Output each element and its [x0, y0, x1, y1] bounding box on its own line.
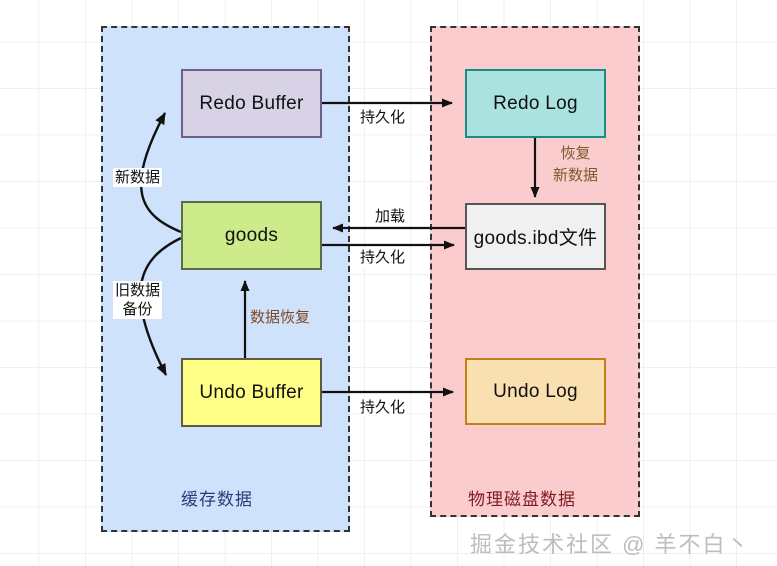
edge-label-recover-line1: 恢复 [553, 143, 598, 165]
edge-label-new-data: 新数据 [113, 168, 162, 187]
edge-label-load: 加载 [373, 207, 407, 226]
edge-label-persist-undo: 持久化 [358, 398, 407, 417]
node-undo-buffer-label: Undo Buffer [199, 382, 303, 404]
edge-label-persist-redo: 持久化 [358, 108, 407, 127]
edge-label-old-data-line1: 旧数据 [115, 281, 160, 300]
region-disk-label: 物理磁盘数据 [468, 485, 576, 510]
diagram-canvas: Redo Buffer goods Undo Buffer Redo Log g… [0, 0, 777, 566]
node-goods-label: goods [225, 225, 278, 247]
edge-label-old-data-line2: 备份 [115, 300, 160, 319]
node-undo-log-label: Undo Log [493, 381, 578, 403]
edge-label-recover-line2: 新数据 [553, 165, 598, 187]
node-undo-buffer[interactable]: Undo Buffer [181, 358, 322, 427]
edge-label-persist-goods: 持久化 [358, 248, 407, 267]
node-redo-buffer[interactable]: Redo Buffer [181, 69, 322, 138]
node-redo-buffer-label: Redo Buffer [199, 93, 303, 115]
edge-label-data-recovery: 数据恢复 [248, 308, 312, 327]
node-redo-log[interactable]: Redo Log [465, 69, 606, 138]
region-cache-label: 缓存数据 [181, 485, 253, 510]
watermark-text: 掘金技术社区 @ 羊不白丶 [470, 527, 751, 559]
node-redo-log-label: Redo Log [493, 93, 578, 115]
node-goods-ibd-file[interactable]: goods.ibd文件 [465, 203, 606, 270]
node-goods-ibd-label: goods.ibd文件 [474, 223, 598, 250]
node-undo-log[interactable]: Undo Log [465, 358, 606, 425]
edge-label-recover-new-data: 恢复 新数据 [551, 143, 600, 187]
edge-label-old-data-backup: 旧数据 备份 [113, 281, 162, 319]
node-goods[interactable]: goods [181, 201, 322, 270]
